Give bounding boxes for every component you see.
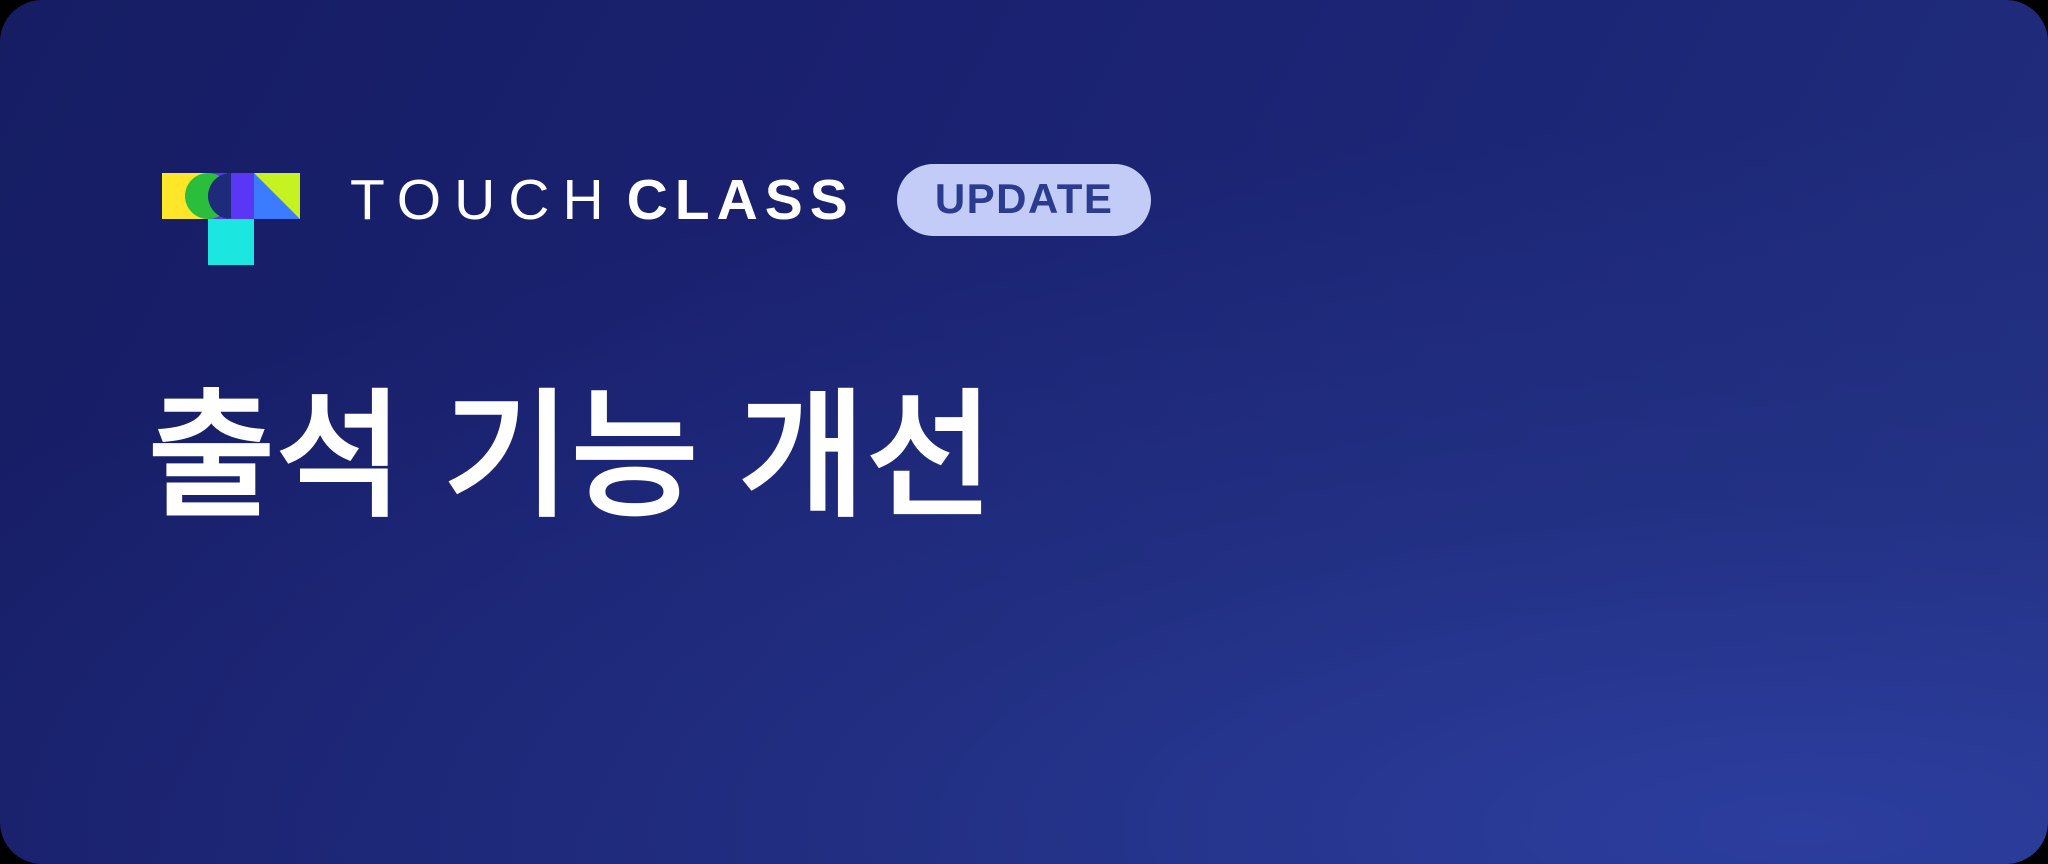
logo-cyan-square-icon xyxy=(208,219,254,265)
page-title: 출석 기능 개선 xyxy=(148,376,994,539)
touchclass-logo-mark xyxy=(162,154,300,247)
wordmark-class-text: CLASS xyxy=(627,172,855,229)
wordmark-touch-text: TOUCH xyxy=(350,172,617,229)
touchclass-wordmark: TOUCHCLASS xyxy=(350,172,855,229)
logo-lime-triangle-icon xyxy=(254,173,300,219)
update-banner: TOUCHCLASS UPDATE 출석 기능 개선 xyxy=(0,0,2048,864)
update-badge: UPDATE xyxy=(897,164,1152,236)
banner-header: TOUCHCLASS UPDATE xyxy=(162,150,1151,250)
